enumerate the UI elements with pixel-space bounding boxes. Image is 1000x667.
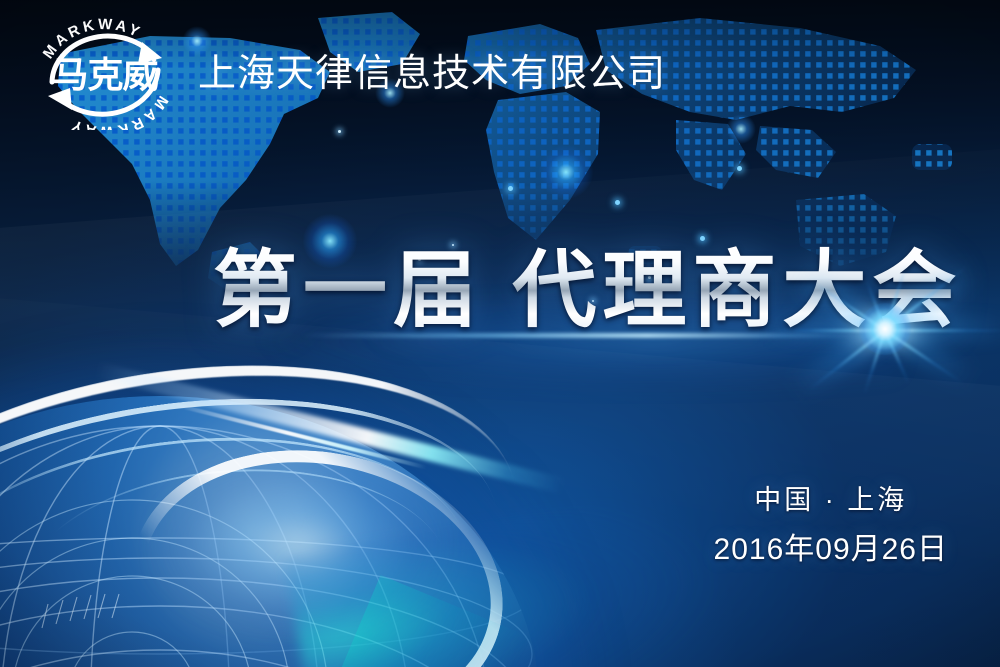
event-location: 中国 · 上海 <box>714 487 948 514</box>
markway-logo[interactable]: MARKWAY MARKWAY 马克威 <box>30 18 180 130</box>
company-name: 上海天律信息技术有限公司 <box>198 55 666 93</box>
brand-header: MARKWAY MARKWAY 马克威 上海天律信息技术有限公司 <box>30 18 666 130</box>
event-poster: MARKWAY MARKWAY 马克威 上海天律信息技术有限公司 第一届 代理商… <box>0 0 1000 667</box>
page-title: 第一届 代理商大会 <box>213 246 962 335</box>
logo-chinese-mark: 马克威 <box>52 55 158 96</box>
event-meta: 中国 · 上海 2016年09月26日 <box>714 487 948 565</box>
sparkle-3 <box>338 130 341 133</box>
event-date: 2016年09月26日 <box>714 535 948 565</box>
